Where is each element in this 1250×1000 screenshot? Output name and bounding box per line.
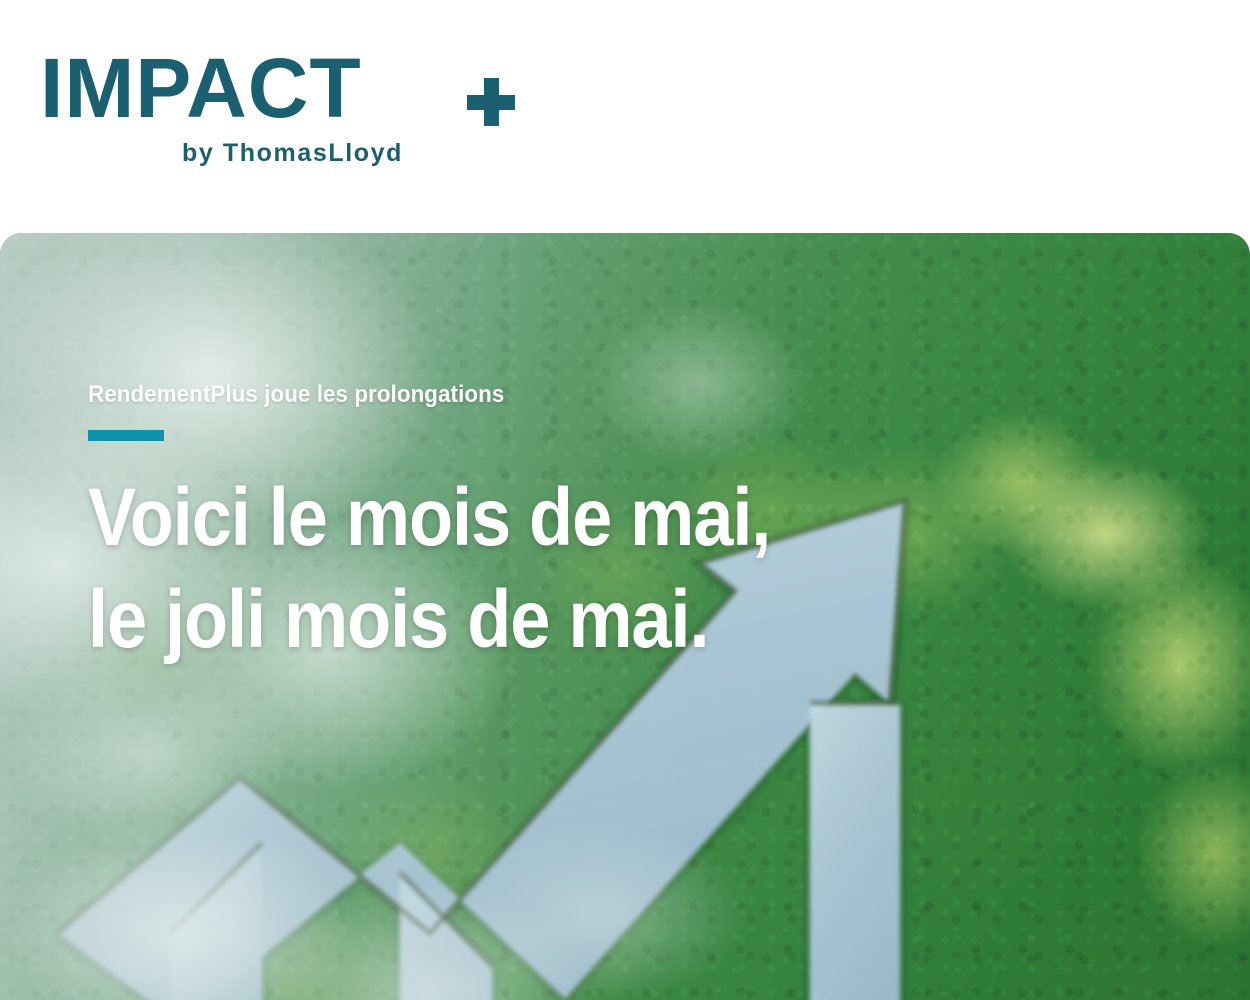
email-banner-page: IMPACT by ThomasLloyd xyxy=(0,0,1250,1000)
headline-line-1: Voici le mois de mai, xyxy=(88,467,810,569)
brand-logo[interactable]: IMPACT by ThomasLloyd xyxy=(40,46,500,130)
accent-bar xyxy=(88,430,164,441)
plus-icon xyxy=(467,78,515,126)
hero-banner: RendementPlus joue les prolongations Voi… xyxy=(0,233,1250,1000)
hero-headline: Voici le mois de mai, le joli mois de ma… xyxy=(88,467,810,671)
hero-eyebrow: RendementPlus joue les prolongations xyxy=(88,381,851,409)
logo-wordmark: IMPACT xyxy=(40,46,500,130)
header-bar: IMPACT by ThomasLloyd xyxy=(0,0,1250,233)
logo-byline: by ThomasLloyd xyxy=(182,138,403,168)
headline-line-2: le joli mois de mai. xyxy=(88,569,810,671)
hero-copy-block: RendementPlus joue les prolongations Voi… xyxy=(88,381,908,671)
